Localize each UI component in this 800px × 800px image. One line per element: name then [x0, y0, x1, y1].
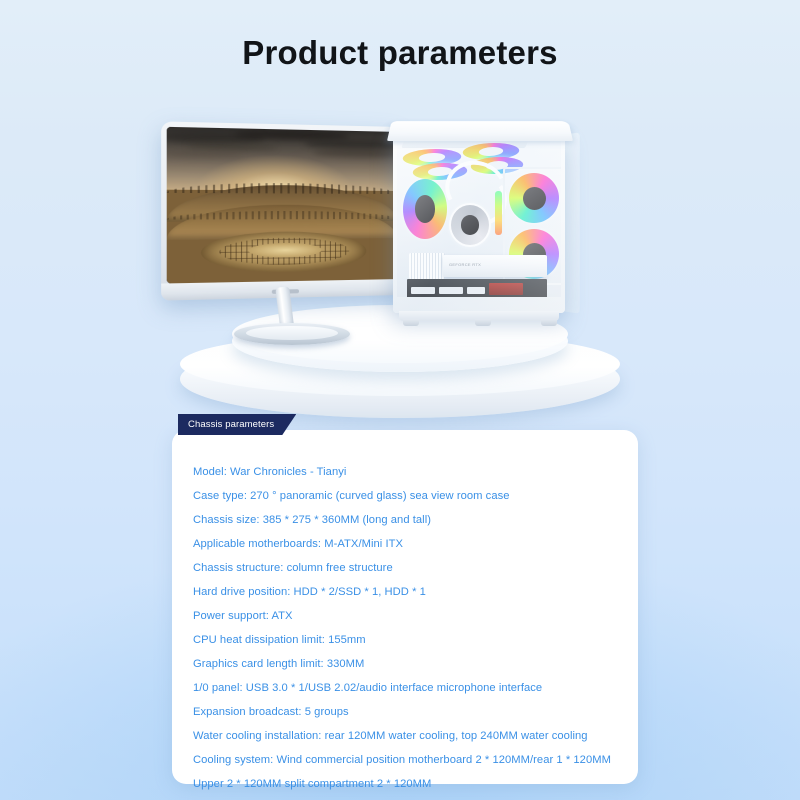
expansion-slot	[411, 287, 435, 294]
motherboard-accent	[489, 283, 523, 295]
case-foot	[541, 319, 557, 326]
case-foot	[403, 319, 419, 326]
monitor-screen	[167, 127, 397, 284]
expansion-slot	[467, 287, 485, 294]
spec-line: Water cooling installation: rear 120MM w…	[193, 724, 622, 748]
spec-line: Chassis size: 385 * 275 * 360MM (long an…	[193, 508, 622, 532]
chassis-parameters-panel: Chassis parameters Model: War Chronicles…	[172, 414, 638, 784]
spec-card: Model: War Chronicles - TianyiCase type:…	[172, 430, 638, 784]
case-top-panel	[387, 121, 573, 141]
curved-monitor	[172, 127, 402, 327]
spec-line: Cooling system: Wind commercial position…	[193, 748, 622, 772]
spec-line: Case type: 270 ° panoramic (curved glass…	[193, 484, 622, 508]
spec-line: Expansion broadcast: 5 groups	[193, 700, 622, 724]
page-title: Product parameters	[0, 34, 800, 72]
case-interior: GEFORCE RTX	[397, 137, 561, 297]
rgb-fan-icon	[509, 173, 559, 223]
cloud-icon	[167, 150, 244, 158]
spec-line: Hard drive position: HDD * 2/SSD * 1, HD…	[193, 580, 622, 604]
monitor-stand-base-inner	[246, 326, 338, 340]
spec-line: Chassis structure: column free structure	[193, 556, 622, 580]
spec-line: Model: War Chronicles - Tianyi	[193, 460, 622, 484]
rgb-fan-icon	[403, 179, 447, 239]
product-hero-image: GEFORCE RTX	[0, 105, 800, 410]
expansion-slot	[439, 287, 463, 294]
spec-list: Model: War Chronicles - TianyiCase type:…	[193, 460, 622, 796]
spec-line: Graphics card length limit: 330MM	[193, 652, 622, 676]
spec-line: CPU heat dissipation limit: 155mm	[193, 628, 622, 652]
case-body: GEFORCE RTX	[393, 133, 565, 313]
chassis-parameters-tab[interactable]: Chassis parameters	[178, 414, 296, 435]
spec-line: Upper 2 * 120MM split compartment 2 * 12…	[193, 772, 622, 796]
rgb-light-strip	[495, 191, 502, 235]
cpu-cooler-fan-icon	[449, 203, 491, 247]
spec-line: Power support: ATX	[193, 604, 622, 628]
spec-line: 1/0 panel: USB 3.0 * 1/USB 2.02/audio in…	[193, 676, 622, 700]
graphics-card: GEFORCE RTX	[443, 255, 547, 277]
case-foot	[475, 319, 491, 326]
spec-line: Applicable motherboards: M-ATX/Mini ITX	[193, 532, 622, 556]
gpu-label: GEFORCE RTX	[449, 262, 481, 267]
cloud-icon	[186, 142, 276, 151]
monitor-shell	[161, 121, 402, 300]
pc-case: GEFORCE RTX	[383, 105, 589, 333]
screen-colosseum	[167, 189, 397, 283]
vrm-heatsink	[409, 253, 445, 279]
